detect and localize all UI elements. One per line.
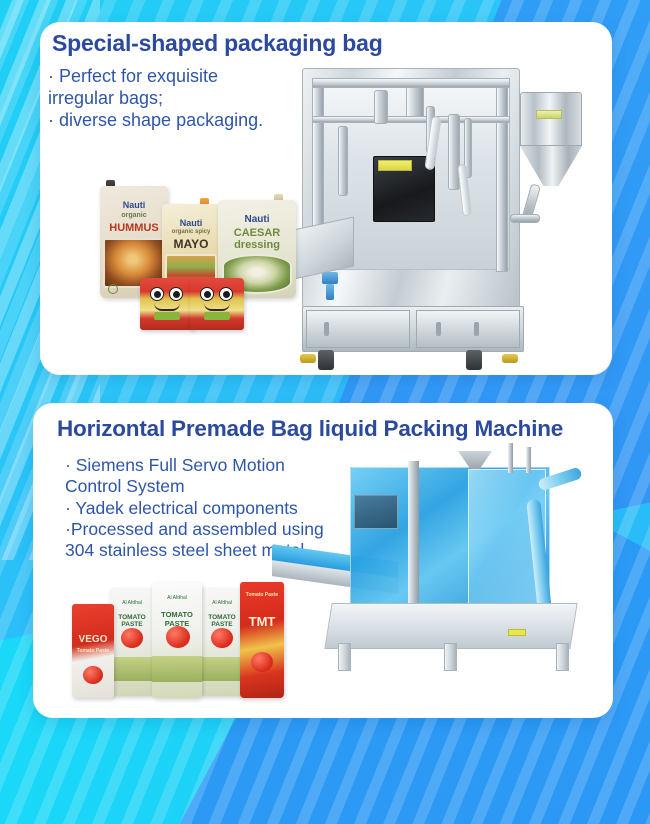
- machine-leg-mid: [444, 643, 457, 671]
- cup-smile-icon: [154, 303, 180, 311]
- card-2-title: Horizontal Premade Bag liquid Packing Ma…: [57, 416, 563, 442]
- safety-sticker-icon: [378, 160, 412, 171]
- pouch-vego: VEGO Tomato Paste: [72, 604, 114, 698]
- tomato-graphic: [251, 652, 273, 672]
- pouch-brand: Al Afdhal: [200, 600, 244, 606]
- machine-cylinder-2: [374, 90, 388, 124]
- hopper-label-icon: [536, 110, 562, 119]
- machine-leveling-foot-left: [300, 354, 316, 363]
- machine-rod-2: [526, 447, 531, 473]
- pouch-tomato-paste-c: Al Afdhal TOMATO PASTE: [200, 588, 244, 696]
- cabinet-handle-left-icon[interactable]: [324, 322, 329, 336]
- machine-cylinder-1: [338, 126, 348, 196]
- machine-caster-left: [318, 350, 334, 370]
- machine-cabinet-door-left[interactable]: [306, 310, 410, 348]
- pouch-brand: Al Afdhal: [110, 600, 154, 606]
- cup-eye-left-icon: [200, 287, 214, 301]
- machine-caster-right: [466, 350, 482, 370]
- pouch-tomato-paste-b: Al Afdhal TOMATO PASTE: [152, 582, 202, 698]
- pouch-product: HUMMUS: [100, 222, 168, 234]
- pouch-product: Tomato Paste: [72, 648, 114, 654]
- pouch-brand: VEGO: [72, 634, 114, 645]
- stainless-rotary-filling-machine-image: [278, 56, 578, 368]
- pouch-tmt: Tomato Paste TMT: [240, 582, 284, 698]
- machine-warning-label-icon: [508, 629, 526, 636]
- pouch-qualifier: organic spicy: [162, 229, 220, 235]
- tomato-graphic: [211, 628, 233, 648]
- pouch-product: Tomato Paste: [240, 592, 284, 598]
- pouch-brand: Nauti: [100, 200, 168, 210]
- pouch-tomato-paste-a: Al Afdhal TOMATO PASTE: [110, 588, 154, 696]
- cup-smile-icon: [204, 303, 230, 311]
- pouch-brand: Al Afdhal: [152, 595, 202, 601]
- machine-rod-1: [508, 443, 513, 473]
- machine-blue-fitting-2: [326, 284, 334, 300]
- machine-outlet-elbow: [510, 214, 540, 223]
- pouch-leaf-band: [152, 656, 202, 682]
- pouch-product: TOMATO PASTE: [200, 614, 244, 628]
- machine-leg-right: [556, 643, 569, 671]
- tomato-graphic: [83, 666, 103, 684]
- pouch-brand: TMT: [240, 614, 284, 629]
- horizontal-packing-machine-image: [272, 443, 602, 698]
- pouch-brand: Nauti: [162, 218, 220, 228]
- pouch-product: MAYO: [162, 237, 220, 251]
- cup-character-1: [140, 278, 194, 330]
- cup-label-band: [204, 312, 230, 320]
- cabinet-handle-right-icon[interactable]: [474, 322, 479, 336]
- cup-eye-left-icon: [150, 287, 164, 301]
- cup-label-band: [154, 312, 180, 320]
- card-1-bullets: · Perfect for exquisite irregular bags; …: [48, 66, 263, 132]
- cup-eye-right-icon: [219, 287, 233, 301]
- machine-leg-left: [338, 643, 351, 671]
- machine-leveling-foot-right: [502, 354, 518, 363]
- pouch-leaf-band: [200, 657, 244, 681]
- pouch-leaf-band: [110, 657, 154, 681]
- machine-hopper-cone: [520, 146, 582, 186]
- machine-cabinet-door-right[interactable]: [416, 310, 520, 348]
- cup-eye-right-icon: [169, 287, 183, 301]
- pouch-product: TOMATO PASTE: [110, 614, 154, 628]
- machine-vertical-column: [408, 461, 419, 611]
- machine-post-right: [496, 80, 508, 272]
- pouch-qualifier: organic: [100, 212, 168, 219]
- machine-rail-top: [312, 78, 510, 88]
- card-1-title: Special-shaped packaging bag: [52, 30, 383, 57]
- cup-character-2: [190, 278, 244, 330]
- pouch-product: CAESAR dressing: [218, 228, 296, 251]
- cabinet-handle-mid-icon[interactable]: [436, 322, 441, 336]
- card-2-product-pouches: Al Afdhal TOMATO PASTE Al Afdhal TOMATO …: [66, 578, 281, 700]
- organic-seal-icon: [108, 284, 118, 294]
- pouch-brand: Nauti: [218, 214, 296, 225]
- card-1-product-pouches: Nauti organic HUMMUS Nauti organic spicy…: [98, 180, 308, 335]
- machine-drive-box: [354, 495, 398, 529]
- machine-hopper: [520, 92, 582, 146]
- promo-banner: Special-shaped packaging bag · Perfect f…: [0, 0, 650, 824]
- tomato-graphic: [121, 628, 143, 648]
- machine-blue-fitting-1: [322, 272, 338, 284]
- machine-rail-mid: [312, 116, 510, 123]
- tomato-graphic: [166, 626, 190, 648]
